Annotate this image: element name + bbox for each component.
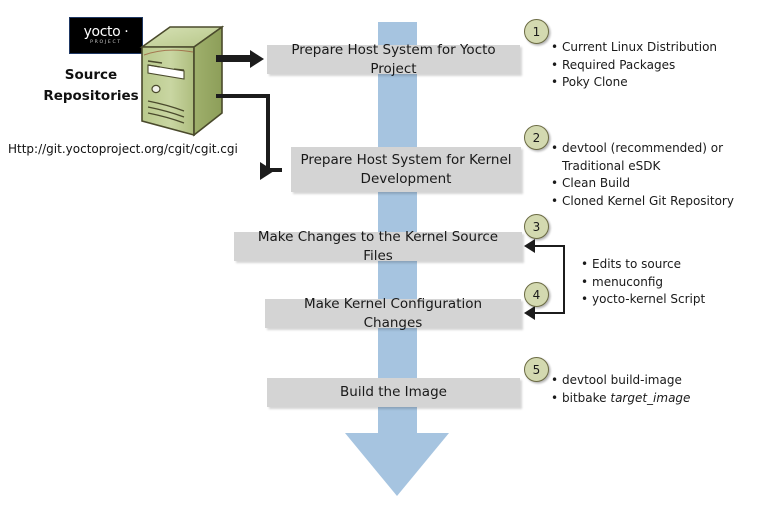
list-item: Current Linux Distribution xyxy=(550,39,717,57)
list-item: yocto-kernel Script xyxy=(580,291,705,309)
step-circle-4: 4 xyxy=(524,282,549,307)
connector-server-to-box2-segment2 xyxy=(266,94,270,172)
logo-subtitle: PROJECT xyxy=(90,41,122,46)
list-item: Cloned Kernel Git Repository xyxy=(550,193,734,211)
process-box-prepare-host-yocto[interactable]: Prepare Host System for Yocto Project xyxy=(267,45,520,74)
step-circle-1: 1 xyxy=(524,19,549,44)
annotation-list-step2: devtool (recommended) or Traditional eSD… xyxy=(550,140,734,210)
list-item: devtool build-image xyxy=(550,372,690,390)
logo-wordmark: yocto · xyxy=(84,25,129,39)
main-flow-arrow-head xyxy=(345,433,449,496)
list-item: bitbake target_image xyxy=(550,390,690,408)
list-item: devtool (recommended) or xyxy=(550,140,734,158)
yocto-project-logo: yocto · PROJECT xyxy=(69,17,143,54)
arrowhead-to-box4 xyxy=(524,306,535,320)
arrowhead-to-box2 xyxy=(260,162,274,180)
arrowhead-to-box1 xyxy=(250,50,264,68)
bitbake-target-placeholder: target_image xyxy=(610,391,690,405)
list-item: Edits to source xyxy=(580,256,705,274)
list-item: Required Packages xyxy=(550,57,717,75)
process-box-make-config-changes[interactable]: Make Kernel Configuration Changes xyxy=(265,299,521,328)
feedback-connector-arm-box3 xyxy=(532,245,565,247)
server-tower-icon xyxy=(138,25,224,138)
source-repositories-label-line1: Source xyxy=(36,65,146,86)
diagram-canvas: yocto · PROJECT Source Repositories Http… xyxy=(0,0,769,517)
source-repositories-url: Http://git.yoctoproject.org/cgit/cgit.cg… xyxy=(8,142,238,156)
list-item: menuconfig xyxy=(580,274,705,292)
step-circle-2: 2 xyxy=(524,125,549,150)
step-circle-3: 3 xyxy=(524,214,549,239)
arrowhead-to-box3 xyxy=(524,239,535,253)
list-item: Clean Build xyxy=(550,175,734,193)
annotation-list-step1: Current Linux Distribution Required Pack… xyxy=(550,39,717,92)
step-circle-5: 5 xyxy=(524,357,549,382)
annotation-list-step5: devtool build-image bitbake target_image xyxy=(550,372,690,407)
feedback-connector-arm-box4 xyxy=(532,312,565,314)
connector-server-to-box2-segment1 xyxy=(216,94,270,98)
process-box-build-image[interactable]: Build the Image xyxy=(267,378,520,407)
annotation-list-step34: Edits to source menuconfig yocto-kernel … xyxy=(580,256,705,309)
source-repositories-label: Source Repositories xyxy=(36,65,146,107)
feedback-connector-spine xyxy=(563,245,565,314)
source-repositories-label-line2: Repositories xyxy=(36,86,146,107)
process-box-prepare-host-kernel[interactable]: Prepare Host System for Kernel Developme… xyxy=(291,147,521,192)
process-box-make-source-changes[interactable]: Make Changes to the Kernel Source Files xyxy=(234,232,522,261)
list-item-continuation: Traditional eSDK xyxy=(550,158,734,176)
list-item: Poky Clone xyxy=(550,74,717,92)
bitbake-command-prefix: bitbake xyxy=(562,391,610,405)
